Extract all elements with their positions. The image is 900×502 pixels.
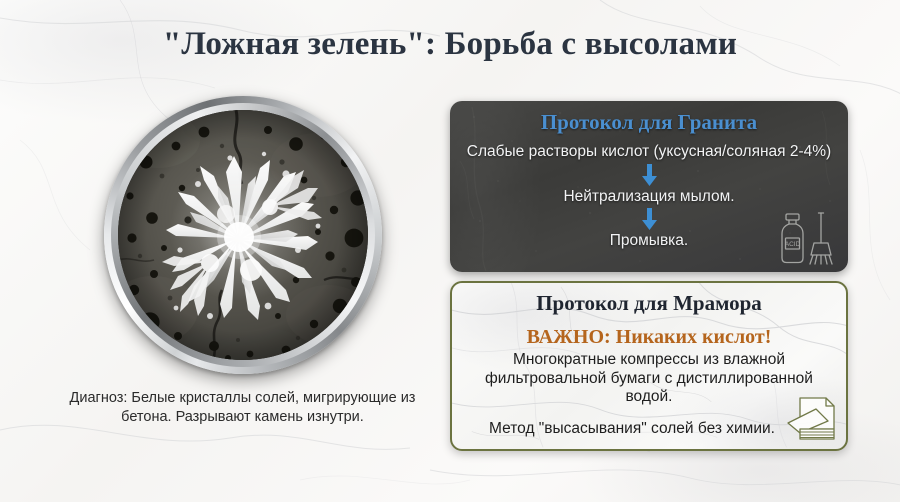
marble-body-text: Многократные компрессы из влажной фильтр… (466, 351, 832, 407)
arrow-down-icon (642, 208, 657, 230)
granite-protocol-title: Протокол для Гранита (464, 110, 834, 135)
arrow-down-icon (642, 164, 657, 186)
slide-title-bar: "Ложная зелень": Борьба с высолами (0, 26, 900, 63)
marble-protocol-panel: Протокол для Мрамора ВАЖНО: Никаких кисл… (450, 281, 848, 451)
right-column: Протокол для Гранита Слабые растворы кис… (450, 101, 848, 451)
marble-protocol-content: Протокол для Мрамора ВАЖНО: Никаких кисл… (466, 291, 832, 438)
granite-protocol-panel: Протокол для Гранита Слабые растворы кис… (450, 101, 848, 272)
photo-caption: Диагноз: Белые кристаллы солей, мигрирую… (60, 389, 425, 427)
granite-step-2: Нейтрализация мылом. (464, 188, 834, 207)
salt-efflorescence-photo (118, 110, 368, 360)
marble-protocol-title: Протокол для Мрамора (466, 291, 832, 316)
photo-frame (104, 96, 382, 374)
acid-label: ACID (785, 241, 801, 248)
marble-note-text: Метод "высасывания" солей без химии. (466, 420, 832, 438)
left-column: Диагноз: Белые кристаллы солей, мигрирую… (60, 96, 425, 427)
granite-step-1: Слабые растворы кислот (уксусная/соляная… (464, 143, 834, 162)
filter-paper-stack-icon (782, 395, 838, 443)
marble-warning-text: ВАЖНО: Никаких кислот! (466, 326, 832, 349)
page-title: "Ложная зелень": Борьба с высолами (0, 26, 900, 63)
slide-canvas: "Ложная зелень": Борьба с высолами (0, 0, 900, 502)
arrow-row-1 (464, 162, 834, 188)
acid-bottle-and-brush-icon: ACID (777, 211, 839, 266)
